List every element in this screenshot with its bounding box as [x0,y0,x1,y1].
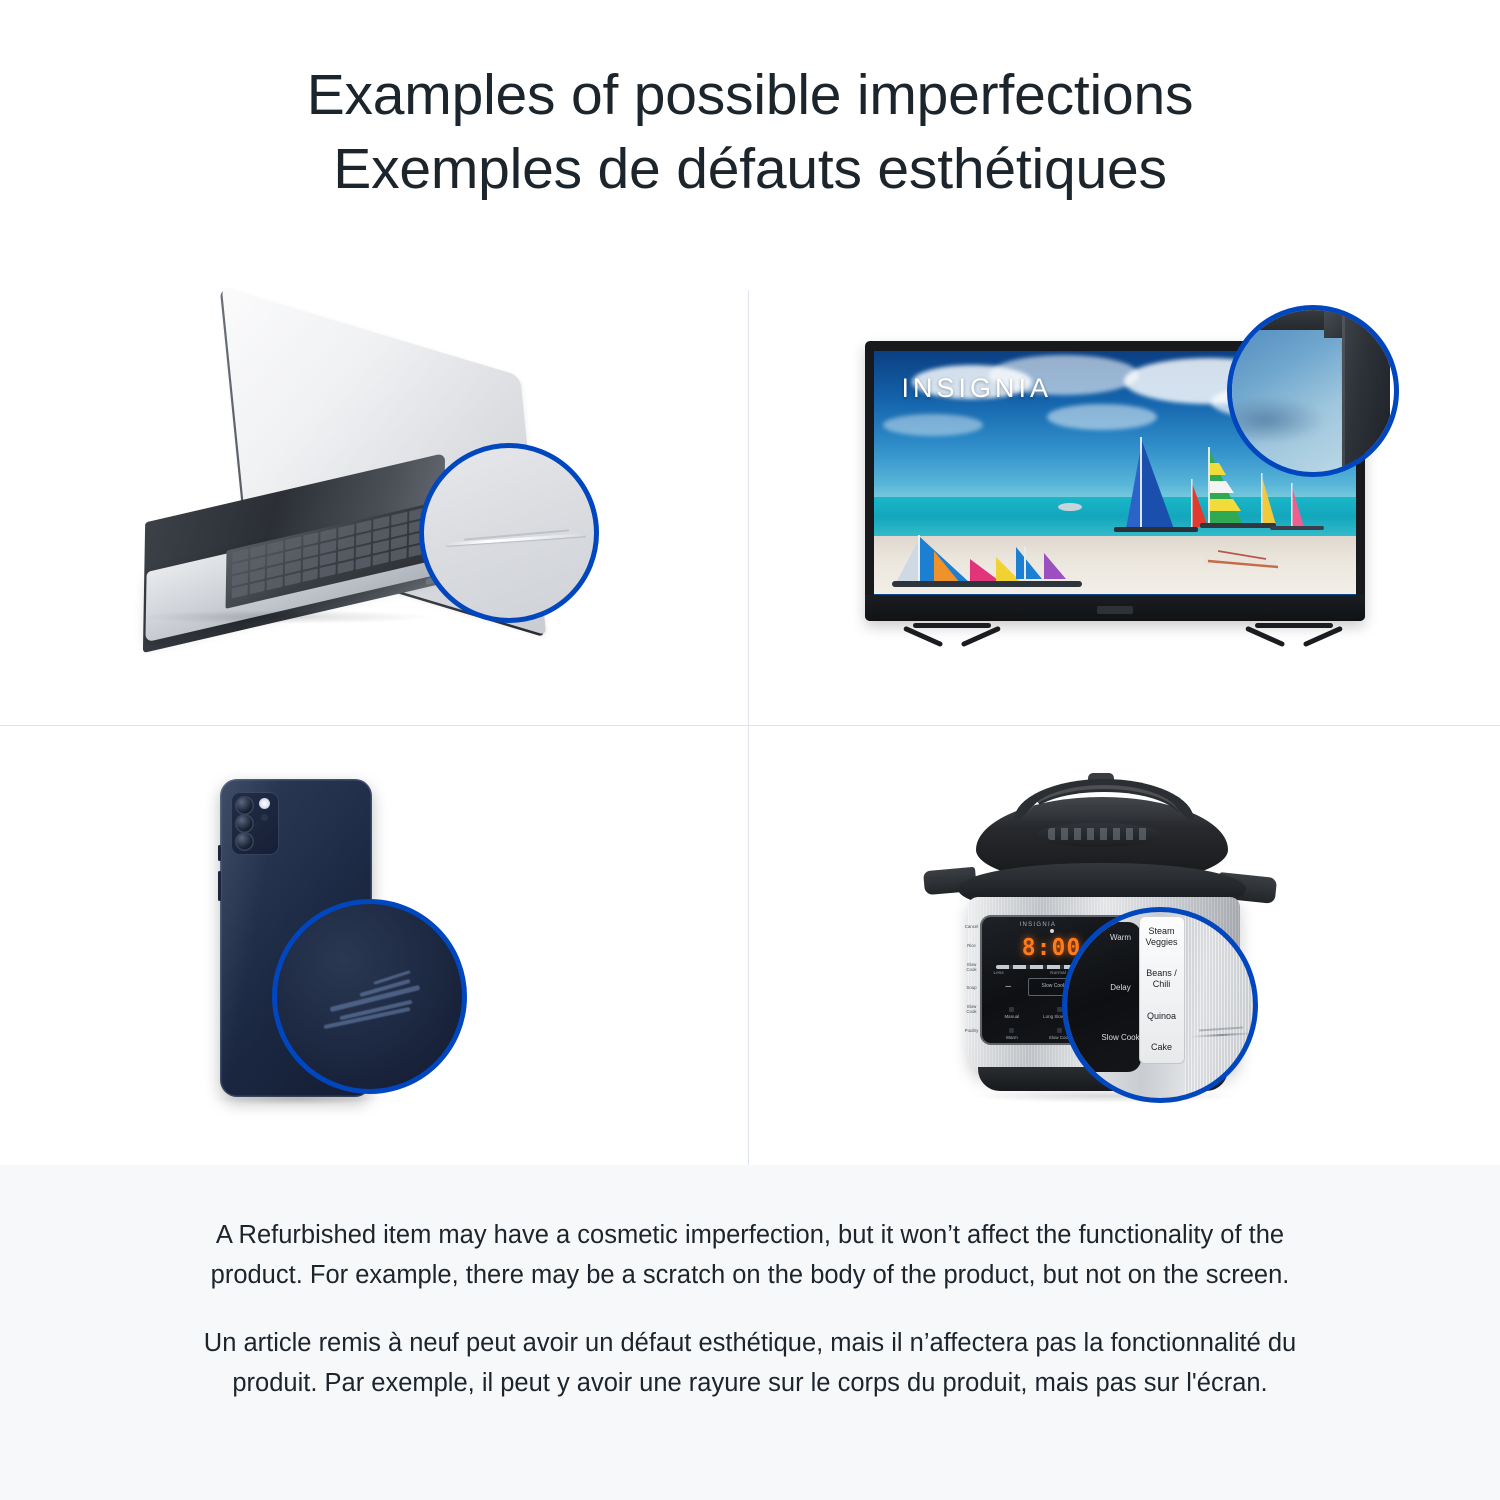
cooker-magnifier-content: Warm Delay Slow Cook Steam Veggies Beans… [1067,912,1253,1098]
cooker-minus-button[interactable]: – [1006,981,1012,992]
phone-camera-lens-icon [235,814,254,833]
grid-cell-laptop [0,260,748,725]
cooker-indicator-dot [1050,929,1054,933]
tv-leg-left [913,623,991,628]
cooker-left-label: Cancel [965,925,979,930]
tv-bezel-logo-icon [1097,606,1133,614]
page-root: Examples of possible imperfections Exemp… [0,0,1500,1500]
cooker-magnified-white-label: Beans / Chili [1139,968,1185,988]
grid-cell-phone [0,726,748,1165]
tv-bottom-bezel [865,595,1365,621]
cooker-magnified-white-label: Cake [1151,1042,1172,1052]
footer-paragraph-en: A Refurbished item may have a cosmetic i… [190,1215,1310,1295]
cooker-magnified-white-label: Quinoa [1147,1011,1176,1021]
phone-camera-lens-icon [235,832,254,851]
tv-magnified-cloud [1227,396,1326,444]
cooker-magnified-white-labels: Steam Veggies Beans / Chili Quinoa Cake [1139,916,1185,1064]
tv-magnifier-content [1227,305,1399,477]
cooker-magnified-dark-labels: Warm Delay Slow Cook [1101,914,1141,1064]
grid-cell-pressure-cooker: Cancel Rice Slow Cook Soup Slow Cook Pou… [749,726,1500,1165]
phone-flash-icon [259,798,270,809]
phone-sensor-icon [261,814,268,821]
cooker-left-label: Slow Cook [962,1005,982,1015]
phone-camera-module [231,792,279,855]
laptop-magnifier-circle [419,443,599,623]
page-title-en: Examples of possible imperfections [307,58,1194,132]
phone-volume-button [218,845,221,861]
cooker-magnified-white-label: Steam Veggies [1139,926,1185,946]
tv-screen-logo: INSIGNIA [902,373,1053,404]
cooker-left-label: Slow Cook [962,963,982,973]
footer-paragraph-fr: Un article remis à neuf peut avoir un dé… [190,1323,1310,1403]
phone-shadow [212,1093,382,1105]
phone-camera-lens-icon [235,796,254,815]
cooker-magnified-label: Warm [1110,934,1131,943]
cooker-button[interactable]: Warm [990,1022,1035,1041]
page-header: Examples of possible imperfections Exemp… [0,0,1500,260]
cooker-lid-vent [1038,823,1160,847]
cooker-level-label-less: Less [994,970,1004,975]
tv-illustration: INSIGNIA [855,303,1395,683]
phone-power-button [218,871,221,901]
cooker-left-label: Rice [967,944,976,949]
laptop-illustration [114,328,634,658]
cooker-level-label-normal: Normal [1050,970,1066,975]
grid-cell-tv: INSIGNIA [749,260,1500,725]
cooker-left-label: Poultry [965,1029,979,1034]
cooker-magnified-steel-texture [1185,912,1258,1103]
tv-magnifier-circle [1227,305,1399,477]
cooker-brand-label: INSIGNIA [1020,922,1057,928]
page-footer: A Refurbished item may have a cosmetic i… [0,1165,1500,1500]
phone-magnifier-circle [272,899,467,1094]
cooker-magnified-label: Slow Cook [1101,1034,1139,1043]
cooker-left-label: Soup [966,986,976,991]
page-title-fr: Exemples de défauts esthétiques [333,132,1167,206]
pressure-cooker-illustration: Cancel Rice Slow Cook Soup Slow Cook Pou… [910,771,1340,1121]
tv-leg-right [1255,623,1333,628]
examples-grid: INSIGNIA [0,260,1500,1165]
phone-illustration [164,771,584,1121]
tv-magnified-bezel-right [1342,305,1390,477]
cooker-magnified-label: Delay [1110,984,1130,993]
cooker-button[interactable]: Manual [990,1001,1035,1020]
laptop-shadow [134,610,434,624]
cooker-magnifier-circle: Warm Delay Slow Cook Steam Veggies Beans… [1062,907,1258,1103]
cooker-left-label-column: Cancel Rice Slow Cook Soup Slow Cook Pou… [962,919,982,1041]
